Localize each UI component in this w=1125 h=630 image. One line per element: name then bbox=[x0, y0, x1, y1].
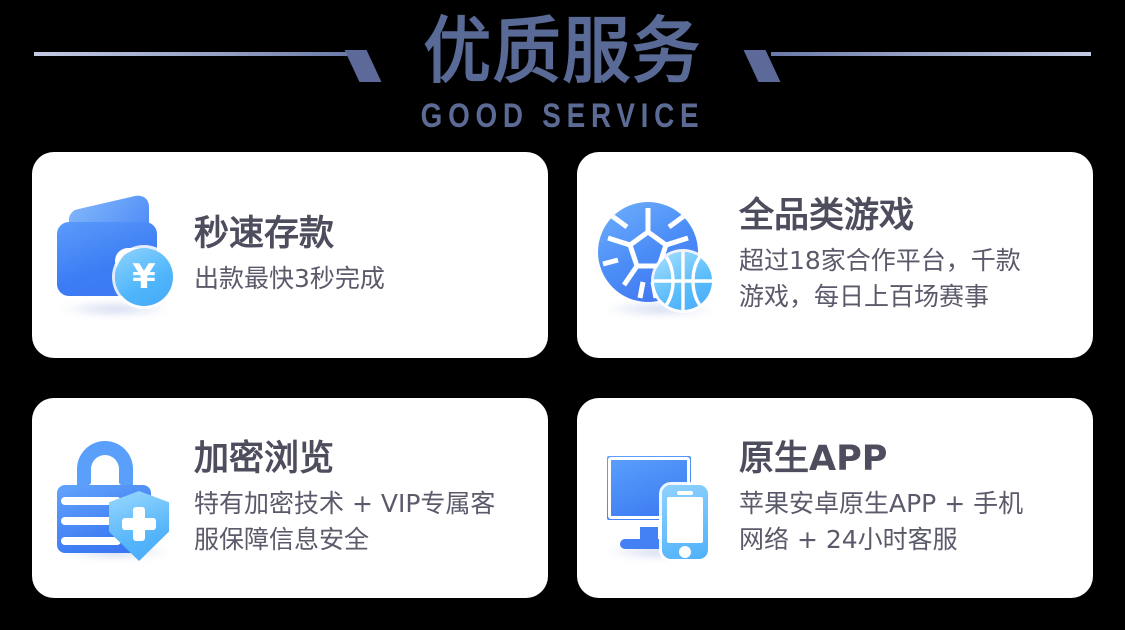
lock-slot-icon bbox=[61, 537, 121, 545]
soccer-basketball-icon bbox=[598, 196, 718, 314]
feature-card-deposit[interactable]: ¥ 秒速存款 出款最快3秒完成 bbox=[32, 152, 548, 358]
lock-shield-icon bbox=[53, 439, 173, 557]
basketball-lines-icon bbox=[654, 252, 712, 310]
phone-home-button-icon bbox=[679, 546, 691, 558]
phone-screen-icon bbox=[667, 497, 703, 543]
card-title: 原生APP bbox=[739, 439, 1079, 480]
wallet-yen-icon: ¥ bbox=[53, 196, 173, 314]
monitor-phone-icon bbox=[598, 439, 718, 557]
page-subtitle: GOOD SERVICE bbox=[101, 96, 1024, 136]
icon-container: ¥ bbox=[32, 180, 194, 330]
smartphone-icon bbox=[662, 485, 708, 559]
page-title: 优质服务 bbox=[34, 6, 1092, 96]
header: 优质服务 GOOD SERVICE bbox=[0, 0, 1125, 150]
yen-coin-icon: ¥ bbox=[115, 248, 173, 306]
card-text: 原生APP 苹果安卓原生APP + 手机 网络 + 24小时客服 bbox=[739, 439, 1093, 558]
card-title: 全品类游戏 bbox=[739, 196, 1079, 237]
card-title: 加密浏览 bbox=[194, 439, 534, 480]
card-description: 超过18家合作平台，千款 游戏，每日上百场赛事 bbox=[739, 243, 1079, 315]
cross-icon bbox=[133, 507, 145, 541]
phone-speaker-icon bbox=[677, 491, 693, 495]
feature-card-encryption[interactable]: 加密浏览 特有加密技术 + VIP专属客 服保障信息安全 bbox=[32, 398, 548, 598]
promo-banner: 优质服务 GOOD SERVICE ¥ 秒速存款 出款最快3秒完成 bbox=[0, 0, 1125, 630]
basketball-icon bbox=[654, 252, 712, 310]
icon-container bbox=[32, 423, 194, 573]
feature-card-games[interactable]: 全品类游戏 超过18家合作平台，千款 游戏，每日上百场赛事 bbox=[577, 152, 1093, 358]
card-text: 加密浏览 特有加密技术 + VIP专属客 服保障信息安全 bbox=[194, 439, 548, 558]
icon-container bbox=[577, 180, 739, 330]
card-description: 出款最快3秒完成 bbox=[194, 261, 534, 297]
card-title: 秒速存款 bbox=[194, 214, 534, 255]
card-text: 全品类游戏 超过18家合作平台，千款 游戏，每日上百场赛事 bbox=[739, 196, 1093, 315]
card-description: 特有加密技术 + VIP专属客 服保障信息安全 bbox=[194, 486, 534, 558]
icon-container bbox=[577, 423, 739, 573]
card-text: 秒速存款 出款最快3秒完成 bbox=[194, 214, 548, 297]
card-description: 苹果安卓原生APP + 手机 网络 + 24小时客服 bbox=[739, 486, 1079, 558]
feature-card-native-app[interactable]: 原生APP 苹果安卓原生APP + 手机 网络 + 24小时客服 bbox=[577, 398, 1093, 598]
